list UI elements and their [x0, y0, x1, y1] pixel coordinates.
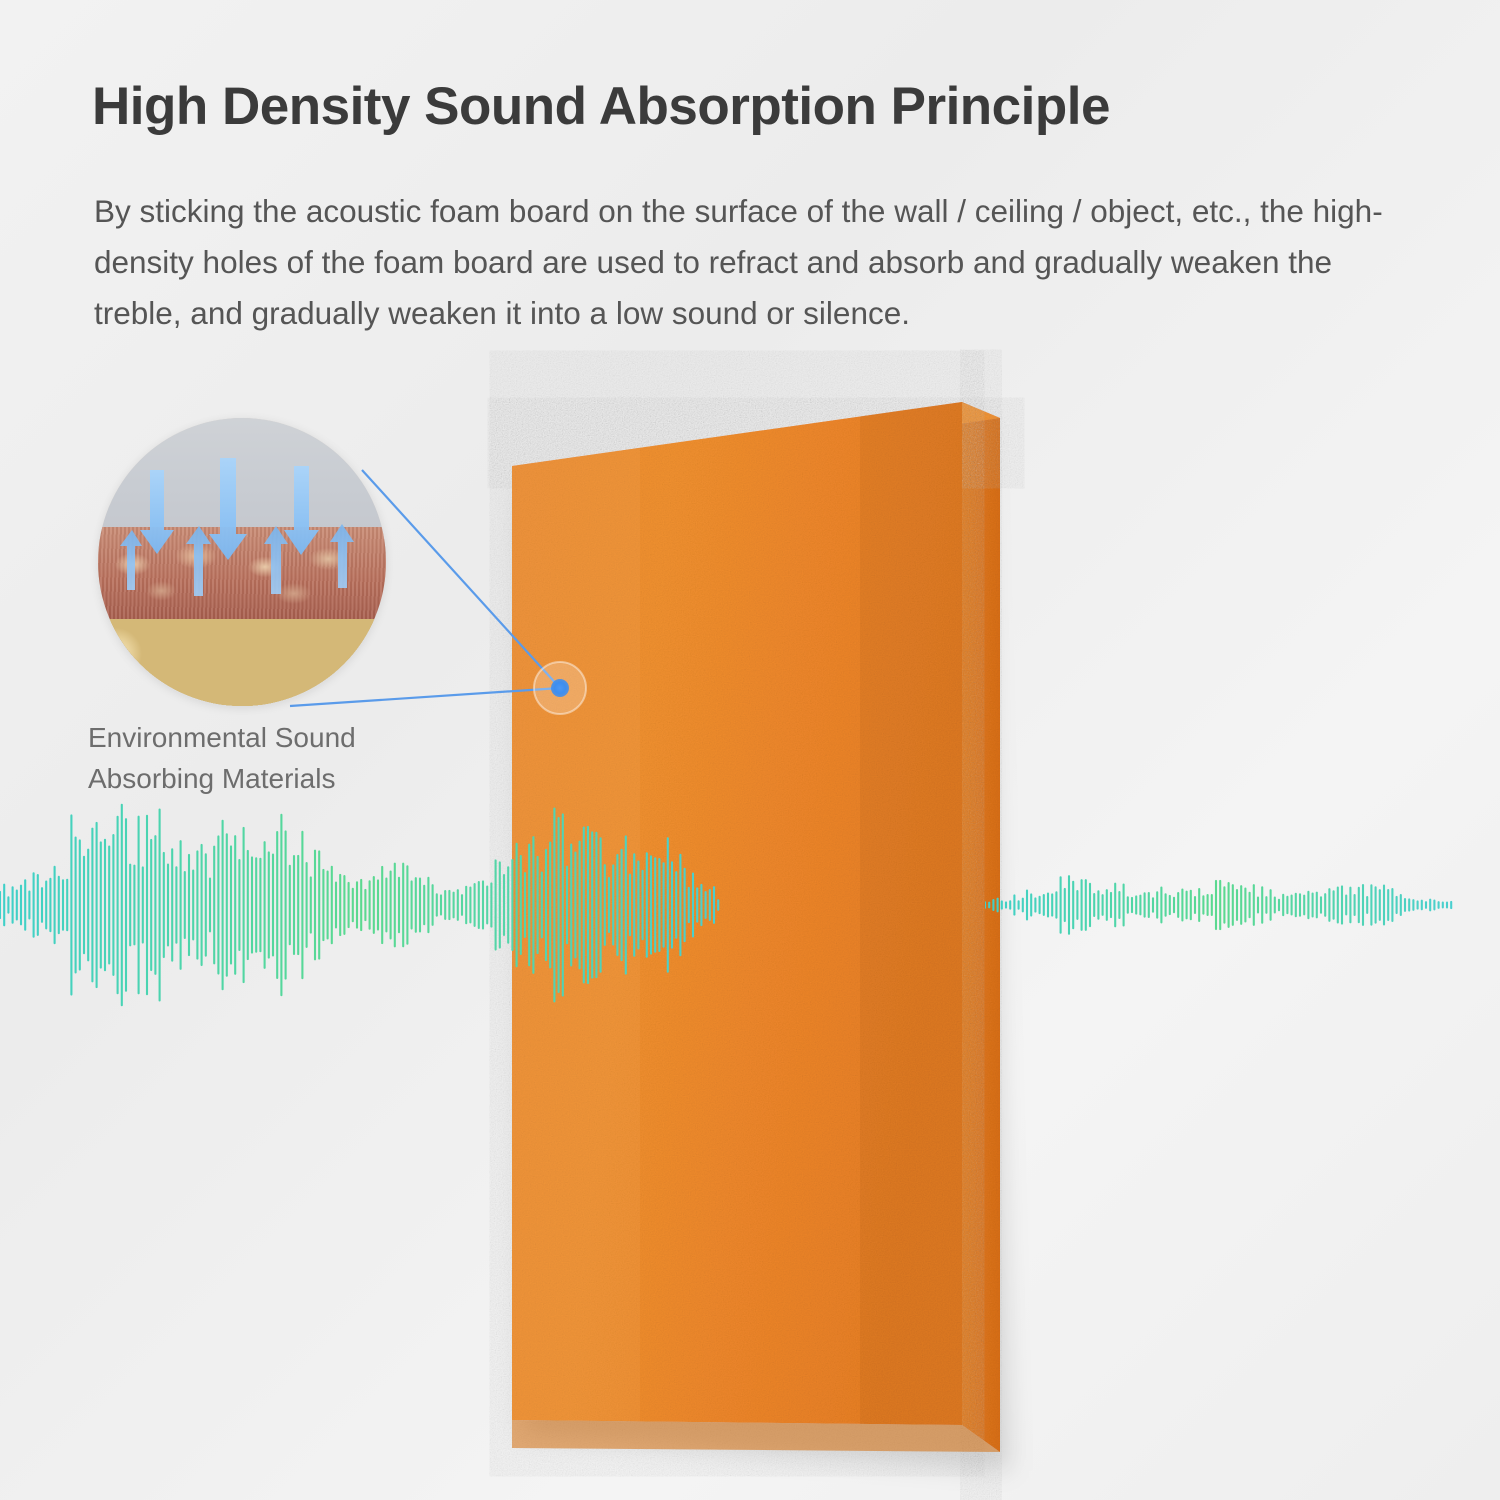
- sound-absorption-closeup-magnifier: [98, 418, 386, 706]
- callout-caption-line2: Absorbing Materials: [88, 759, 508, 800]
- incoming-arrow-icon: [209, 458, 247, 560]
- reflected-arrow-icon: [330, 524, 354, 588]
- incoming-arrow-icon: [140, 470, 174, 554]
- reflected-arrow-icon: [264, 526, 288, 594]
- illustration-page: High Density Sound Absorption Principle …: [0, 0, 1500, 1500]
- callout-caption-line1: Environmental Sound: [88, 718, 508, 759]
- callout-caption: Environmental Sound Absorbing Materials: [88, 718, 508, 799]
- reflected-arrow-icon: [186, 526, 211, 596]
- sound-arrow-group: [98, 418, 386, 706]
- reflected-arrow-icon: [120, 530, 142, 590]
- attenuated-sound-waveform: [985, 840, 1455, 970]
- callout-dot: [551, 679, 569, 697]
- incoming-sound-waveform: [0, 800, 720, 1010]
- incoming-arrow-icon: [284, 466, 319, 555]
